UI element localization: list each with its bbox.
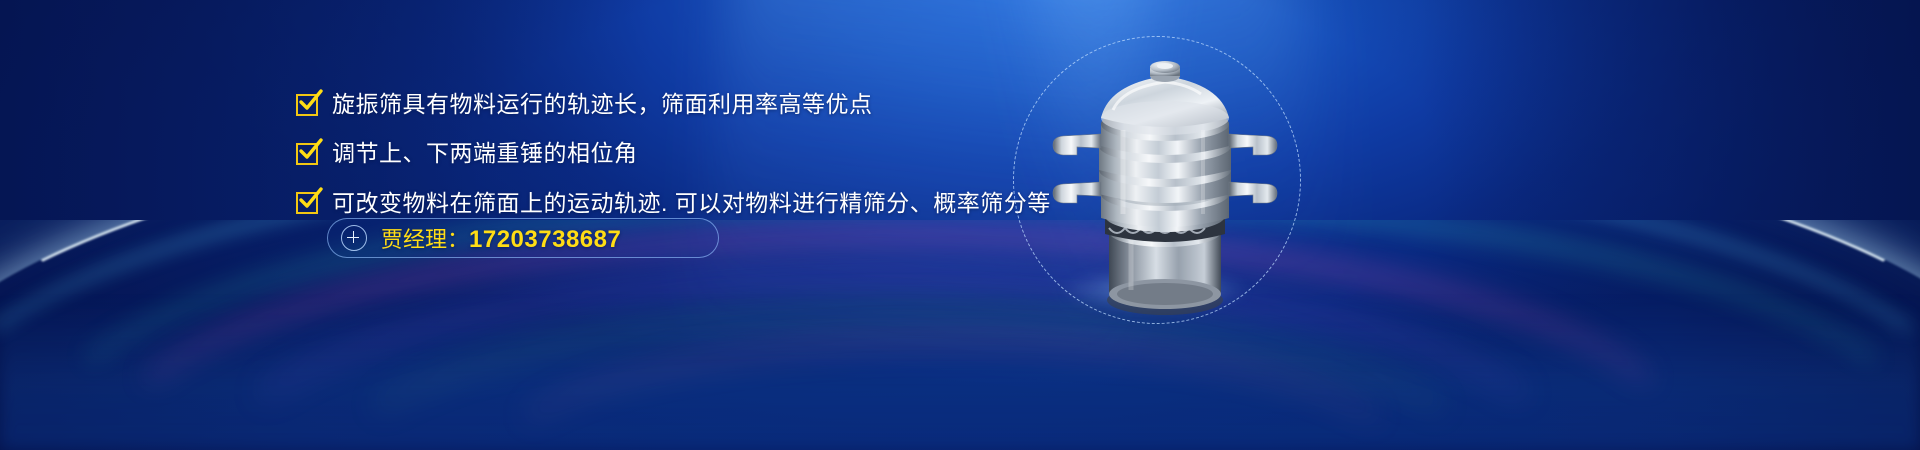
contact-button[interactable]: 贾经理：17203738687: [327, 218, 719, 258]
contact-label: 贾经理：: [381, 227, 469, 252]
plus-circle-icon: [341, 225, 367, 251]
checkmark-icon: [296, 192, 318, 214]
feature-text: 调节上、下两端重锤的相位角: [332, 141, 638, 166]
feature-text: 旋振筛具有物料运行的轨迹长，筛面利用率高等优点: [332, 92, 873, 117]
checkmark-icon: [296, 143, 318, 165]
list-item: 旋振筛具有物料运行的轨迹长，筛面利用率高等优点: [296, 92, 1051, 117]
feature-text: 可改变物料在筛面上的运动轨迹. 可以对物料进行精筛分、概率筛分等: [332, 191, 1051, 216]
product-figure: [1005, 18, 1325, 338]
content-column: 旋振筛具有物料运行的轨迹长，筛面利用率高等优点 调节上、下两端重锤的相位角 可改…: [0, 0, 1000, 450]
rotary-vibrating-sieve-image: [1005, 18, 1325, 338]
contact-text: 贾经理：17203738687: [381, 222, 621, 254]
contact-phone: 17203738687: [469, 226, 621, 253]
list-item: 可改变物料在筛面上的运动轨迹. 可以对物料进行精筛分、概率筛分等: [296, 191, 1051, 216]
promo-banner: 旋振筛具有物料运行的轨迹长，筛面利用率高等优点 调节上、下两端重锤的相位角 可改…: [0, 0, 1920, 450]
list-item: 调节上、下两端重锤的相位角: [296, 141, 1051, 166]
checkmark-icon: [296, 94, 318, 116]
